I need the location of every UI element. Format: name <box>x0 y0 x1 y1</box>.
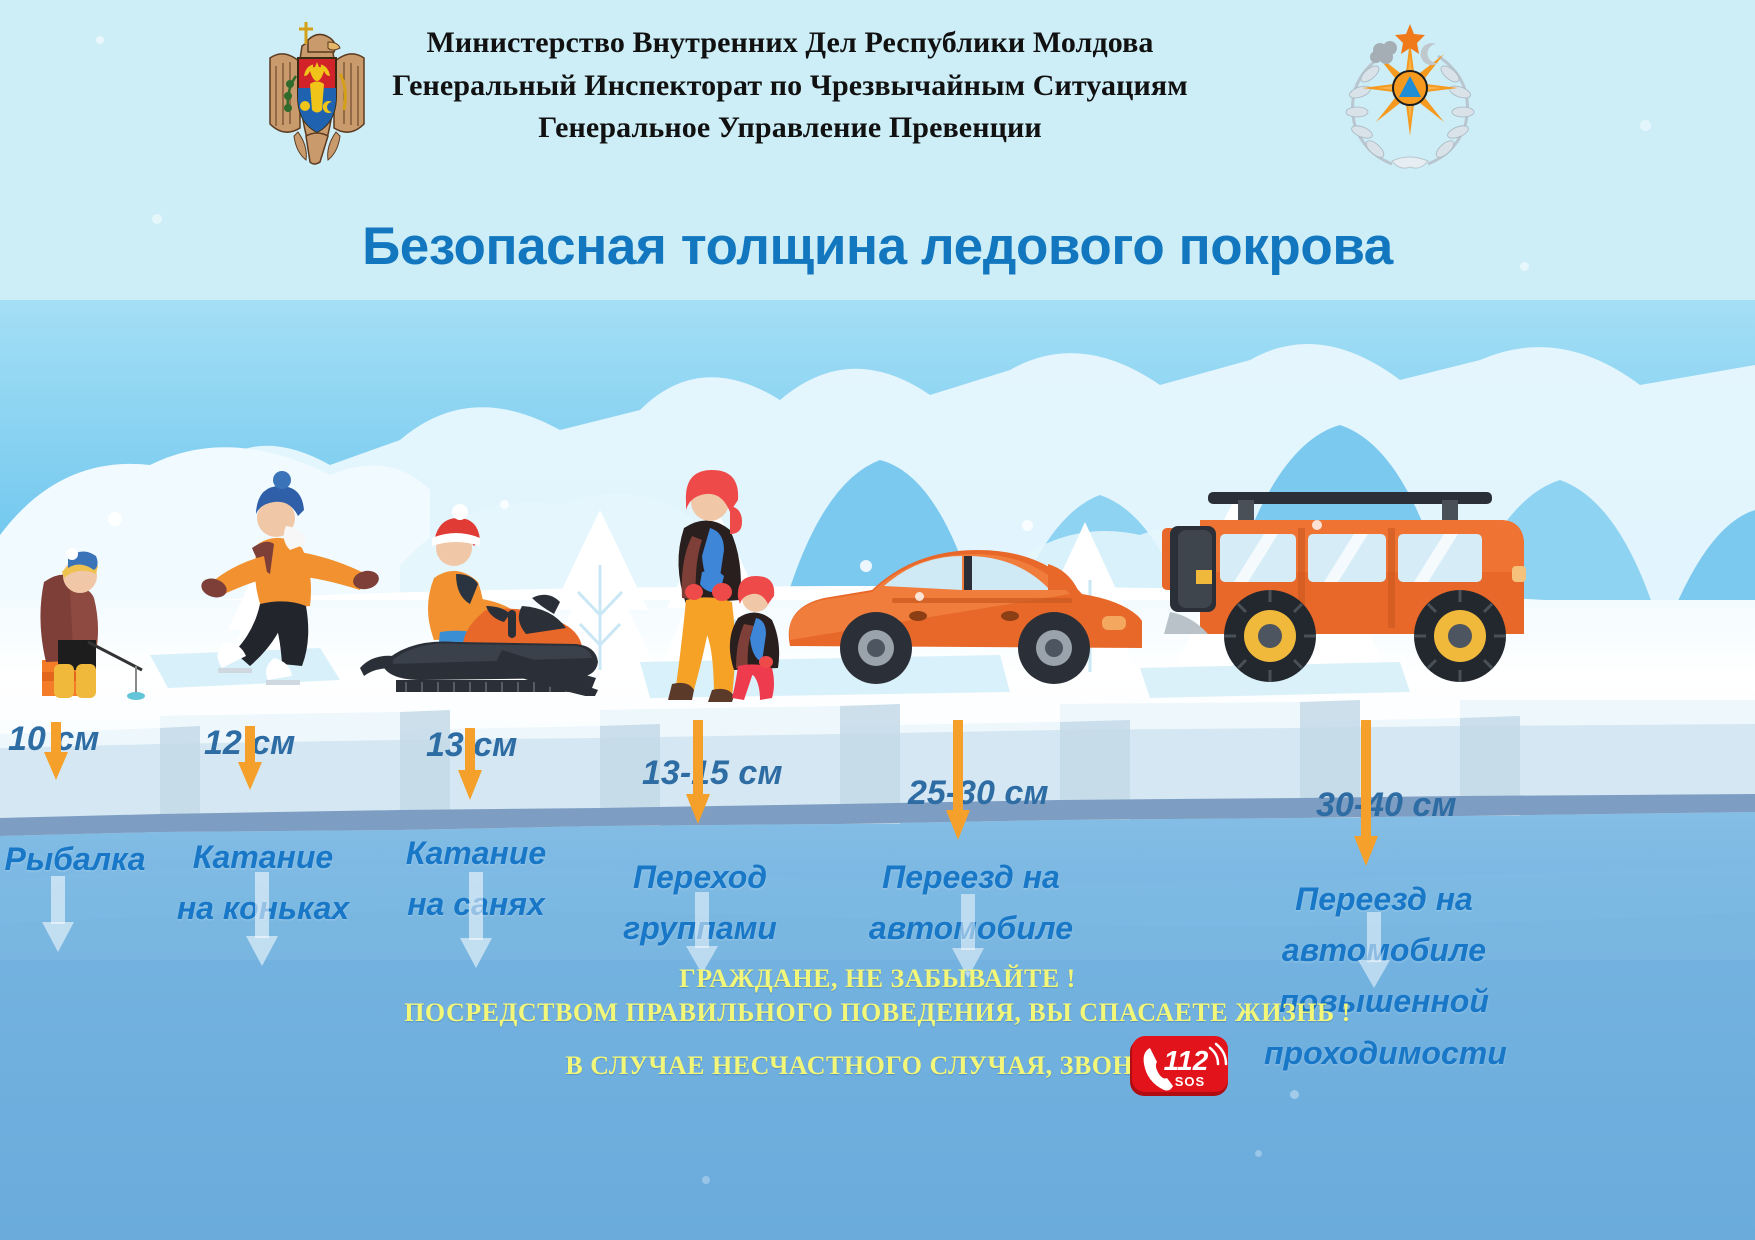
thickness-arrow-2 <box>236 726 264 792</box>
logo-number: 112 <box>1164 1045 1209 1076</box>
snow-dot <box>500 500 509 509</box>
depth-arrow-3 <box>458 872 494 970</box>
snow-dot <box>1022 520 1033 531</box>
snow-dot <box>1312 520 1322 530</box>
thickness-arrow-5 <box>944 720 972 842</box>
header-line-2: Генеральный Инспекторат по Чрезвычайным … <box>380 65 1200 108</box>
emergency-112-logo[interactable]: 112 SOS <box>1128 1034 1233 1100</box>
header-line-3: Генеральное Управление Превенции <box>380 107 1200 150</box>
snow-dot <box>702 1176 710 1184</box>
igsu-emblem-icon <box>1330 18 1490 173</box>
logo-sub: SOS <box>1175 1074 1205 1089</box>
warning-line-2: ПОСРЕДСТВОМ ПРАВИЛЬНОГО ПОВЕДЕНИЯ, ВЫ СП… <box>0 998 1755 1028</box>
warning-line-3: В СЛУЧАЕ НЕСЧАСТНОГО СЛУЧАЯ, ЗВОНИТЕ <box>0 1051 1755 1081</box>
depth-arrow-1 <box>40 876 76 954</box>
snowmobile-icon <box>336 484 626 696</box>
thickness-arrow-3 <box>456 728 484 802</box>
ice-fisherman-icon <box>14 520 174 702</box>
header-band: Министерство Внутренних Дел Республики М… <box>0 0 1755 180</box>
warning-line-1: ГРАЖДАНЕ, НЕ ЗАБЫВАЙТЕ ! <box>0 964 1755 994</box>
measure-value-4: 13-15 см <box>642 754 782 793</box>
snow-dot <box>860 560 872 572</box>
header-line-1: Министерство Внутренних Дел Республики М… <box>380 22 1200 65</box>
depth-arrow-2 <box>244 872 280 968</box>
suv-icon <box>1142 470 1562 700</box>
moldova-coat-of-arms-icon <box>262 18 372 166</box>
measure-value-5: 25-30 см <box>908 774 1048 813</box>
infographic-canvas: 10 см Рыбалка 12 см Катание на коньках <box>0 0 1755 1240</box>
thickness-arrow-4 <box>684 720 712 826</box>
page-title: Безопасная толщина ледового покрова <box>0 216 1755 277</box>
snow-dot <box>1290 1090 1299 1099</box>
snow-dot <box>915 592 924 601</box>
thickness-arrow-1 <box>42 722 70 782</box>
thickness-arrow-6 <box>1352 720 1380 868</box>
car-icon <box>772 520 1142 706</box>
header-title-block: Министерство Внутренних Дел Республики М… <box>380 22 1200 150</box>
snow-dot <box>1255 1150 1262 1157</box>
measure-value-6: 30-40 см <box>1316 786 1456 825</box>
snow-dot <box>108 512 122 526</box>
